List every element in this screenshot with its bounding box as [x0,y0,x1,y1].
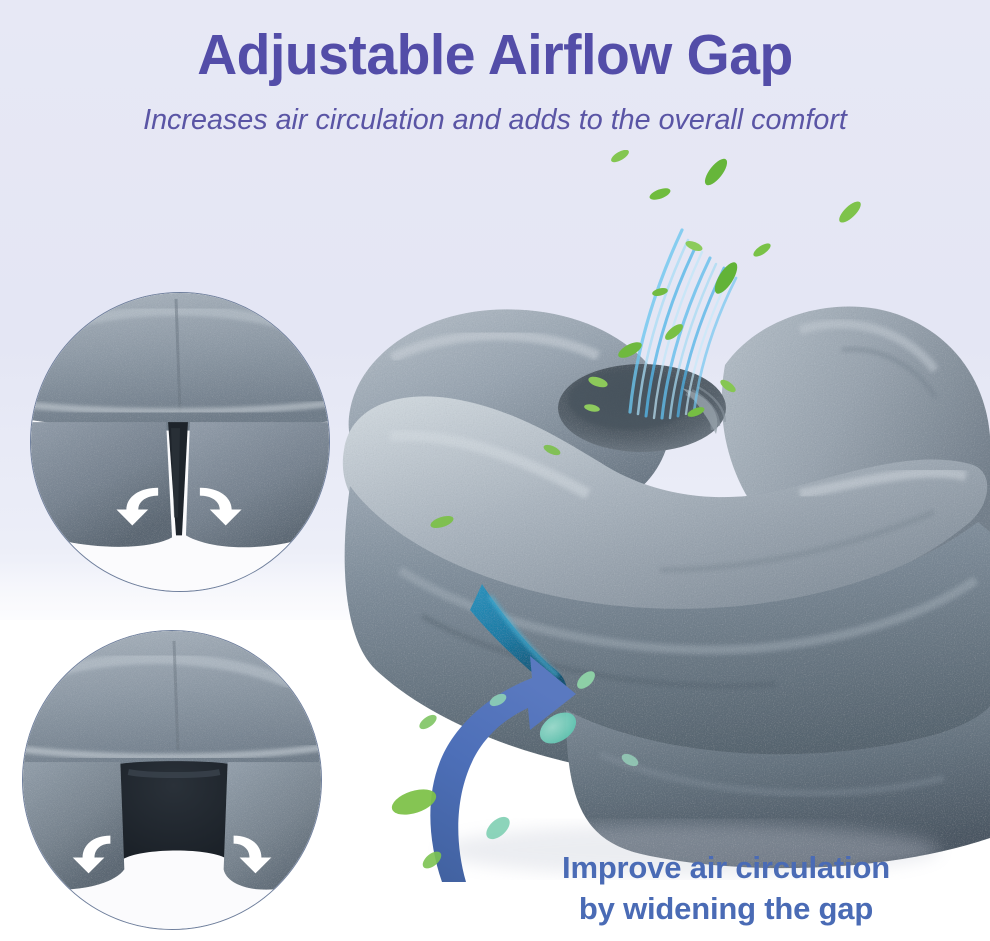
feature-caption: Improve air circulation by widening the … [486,848,966,930]
inset-narrow-gap [30,292,330,592]
caption-line-1: Improve air circulation [562,850,890,885]
product-feature-banner: Adjustable Airflow Gap Increases air cir… [0,0,990,941]
airflow-callout-group [380,560,680,890]
inset-wide-gap [22,630,322,930]
caption-line-2: by widening the gap [486,889,966,930]
page-title: Adjustable Airflow Gap [15,26,975,86]
page-subtitle: Increases air circulation and adds to th… [5,103,985,138]
